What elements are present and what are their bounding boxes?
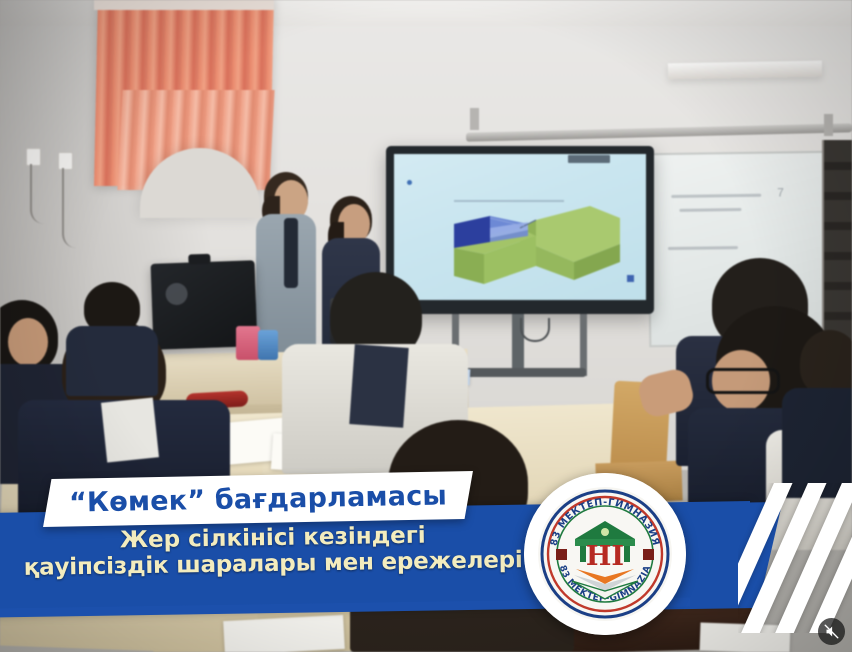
- title-plate-text-wrap: “Көмек” бағдарламасы: [48, 471, 469, 527]
- wall-cable: [62, 168, 94, 248]
- diagonal-stripes: [738, 483, 852, 633]
- rail-bracket: [824, 114, 833, 136]
- panel-corner-dot: [407, 180, 412, 185]
- blinds-valance: [94, 0, 274, 10]
- eyeglasses: [706, 368, 780, 394]
- school-emblem: 83 МЕКТЕП-ГИМНАЗИЯ 83 MEKTEP-GIMNAZIA НІ: [538, 487, 672, 621]
- speaker-muted-icon[interactable]: [818, 618, 845, 645]
- panel-toolbar-tab[interactable]: [568, 155, 610, 163]
- interactive-flat-panel[interactable]: [386, 146, 654, 314]
- whiteboard-mark: 7: [777, 185, 784, 199]
- geological-fault-block-diagram: [424, 188, 624, 288]
- wall-cable: [30, 164, 56, 224]
- pen-holder: [258, 330, 278, 360]
- ceiling-light-fixture: [668, 61, 822, 80]
- pen-holder: [236, 326, 260, 360]
- panel-screen[interactable]: [394, 154, 646, 300]
- display-stand-leg: [580, 314, 587, 376]
- video-frame: 7: [0, 0, 852, 652]
- wall-cabinet: [822, 140, 852, 340]
- display-stand-base: [452, 368, 586, 377]
- rail-bracket: [470, 108, 479, 130]
- panel-corner-marker: [627, 275, 634, 282]
- svg-text:НІ: НІ: [586, 541, 624, 572]
- program-title: “Көмек” бағдарламасы: [69, 480, 448, 518]
- lower-third-overlay: “Көмек” бағдарламасы Жер сілкінісі кезін…: [0, 455, 852, 652]
- subtitle-block: Жер сілкінісі кезіндегі қауіпсіздік шара…: [0, 521, 546, 582]
